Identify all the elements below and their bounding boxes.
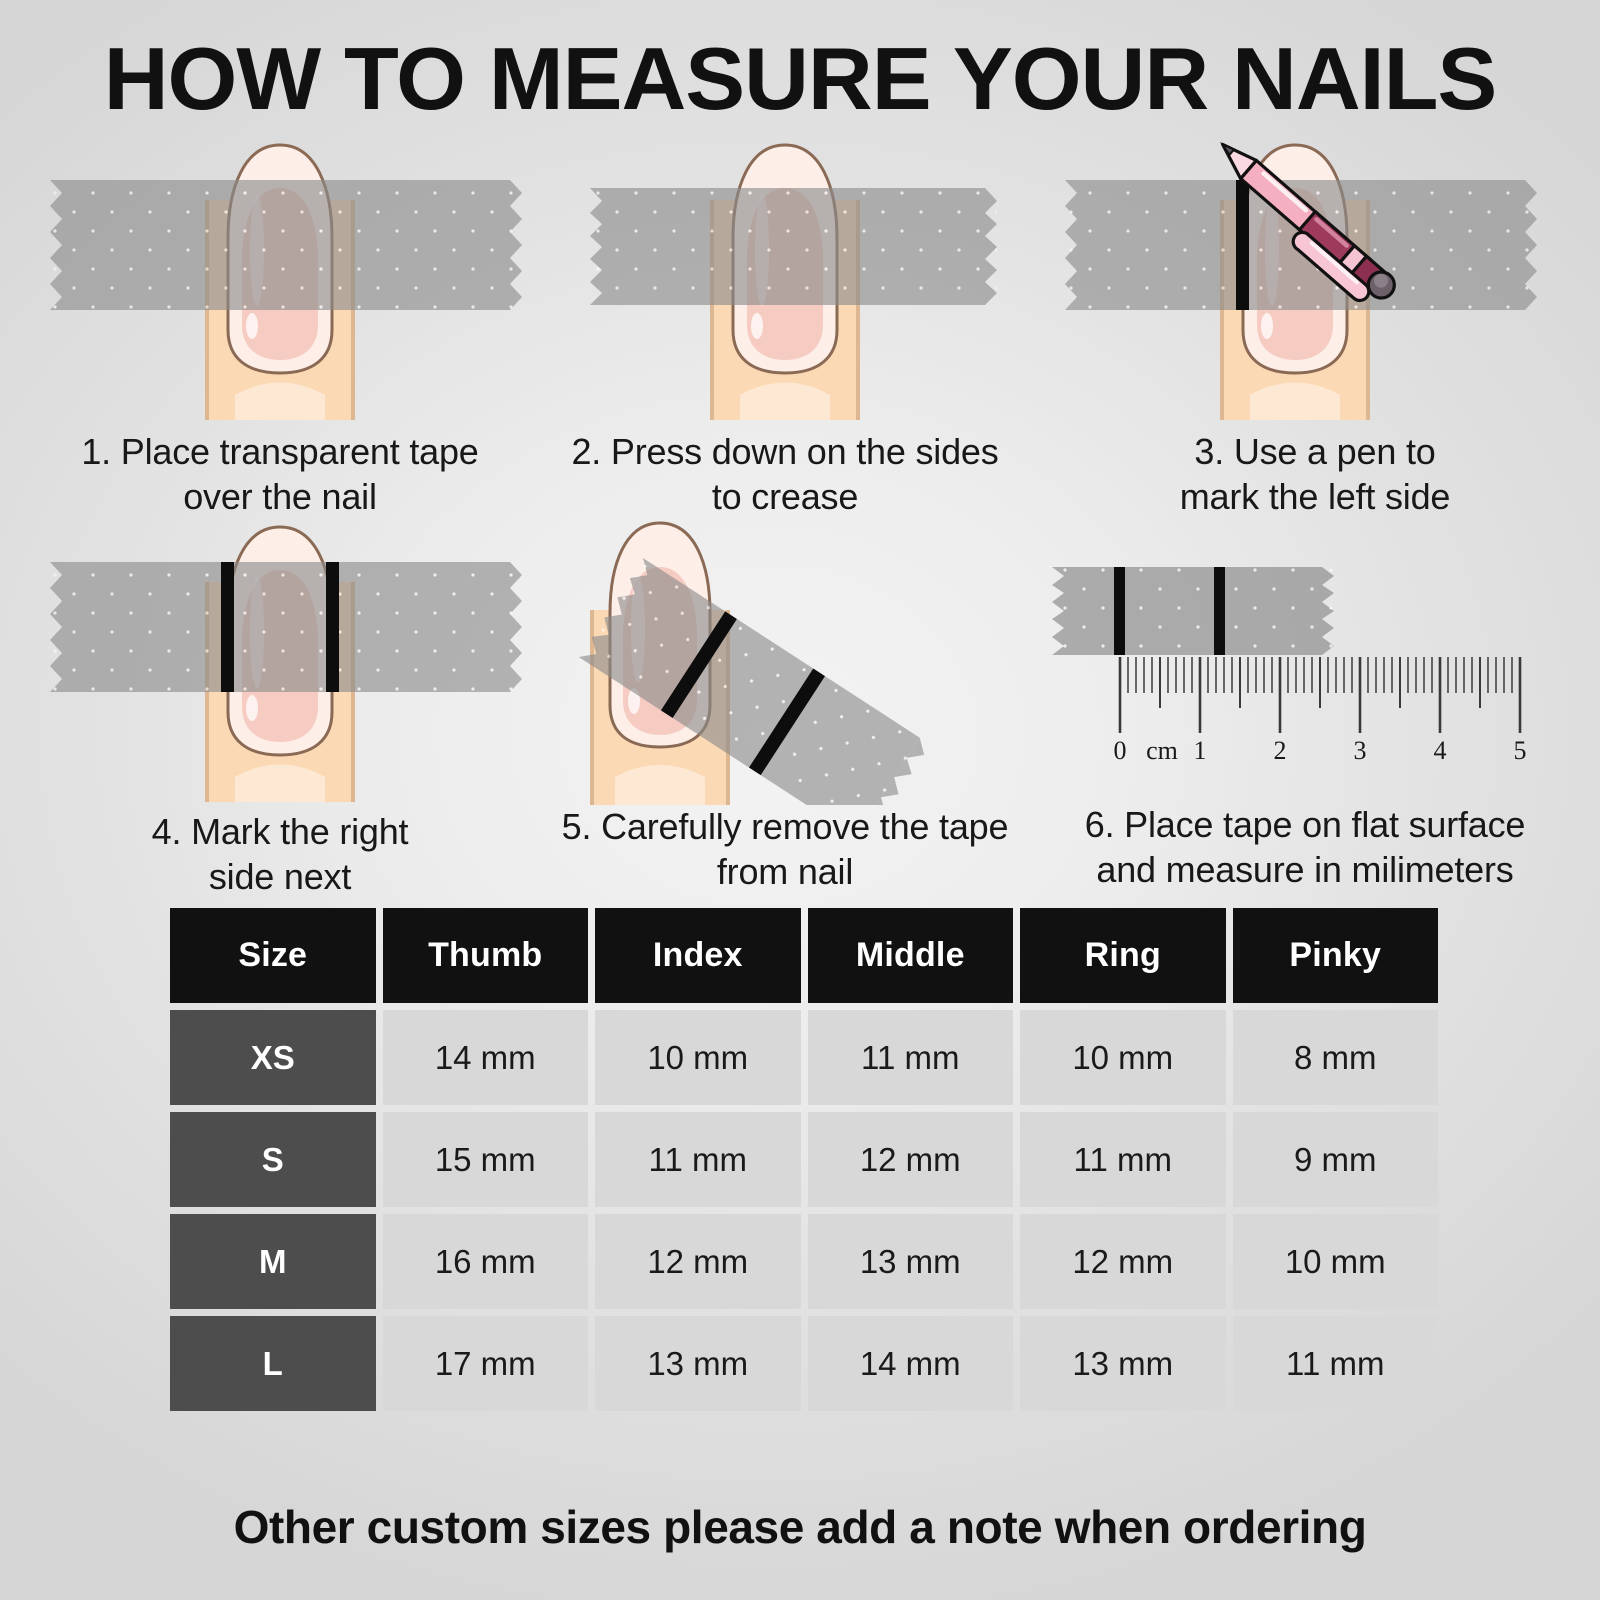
size-label: XS: [170, 1010, 376, 1105]
step-1: 1. Place transparent tape over the nail: [30, 130, 530, 530]
right-mark: [326, 562, 339, 692]
step-4-caption: 4. Mark the right side next: [30, 810, 530, 899]
table-cell: 11 mm: [1233, 1316, 1439, 1411]
ruler-label-5: 5: [1514, 736, 1527, 765]
ruler-label-0: 0: [1114, 736, 1127, 765]
table-cell: 13 mm: [808, 1214, 1014, 1309]
table-cell: 14 mm: [383, 1010, 589, 1105]
table-cell: 13 mm: [595, 1316, 801, 1411]
tape-mark-right: [1214, 567, 1225, 655]
tape-strip: [50, 562, 522, 692]
table-header-thumb: Thumb: [383, 908, 589, 1003]
table-cell: 11 mm: [808, 1010, 1014, 1105]
tape-strip-flat: [1052, 567, 1334, 655]
size-chart-table: Size Thumb Index Middle Ring Pinky XS 14…: [170, 908, 1438, 1418]
step-2-illustration: [535, 130, 1035, 420]
step-6-illustration: 0 cm 1 2 3 4 5: [1040, 545, 1540, 795]
step-1-illustration: [30, 130, 530, 420]
ruler-label-3: 3: [1354, 736, 1367, 765]
step-3-caption: 3. Use a pen to mark the left side: [1065, 430, 1565, 519]
step-3: 3. Use a pen to mark the left side: [1065, 130, 1565, 530]
size-label: S: [170, 1112, 376, 1207]
table-row: S 15 mm 11 mm 12 mm 11 mm 9 mm: [170, 1112, 1438, 1207]
table-cell: 12 mm: [808, 1112, 1014, 1207]
ruler: 0 cm 1 2 3 4 5: [1114, 657, 1527, 765]
tape-strip: [50, 180, 522, 310]
step-5-illustration: [535, 505, 1035, 805]
table-cell: 10 mm: [595, 1010, 801, 1105]
step-5-caption: 5. Carefully remove the tape from nail: [535, 805, 1035, 894]
ruler-label-4: 4: [1434, 736, 1447, 765]
step-4-illustration: [30, 512, 530, 802]
tape-strip-creased: [590, 188, 997, 305]
table-cell: 10 mm: [1233, 1214, 1439, 1309]
step-5: 5. Carefully remove the tape from nail: [535, 505, 1035, 905]
table-header-middle: Middle: [808, 908, 1014, 1003]
table-row: XS 14 mm 10 mm 11 mm 10 mm 8 mm: [170, 1010, 1438, 1105]
footnote: Other custom sizes please add a note whe…: [0, 1500, 1600, 1554]
table-cell: 11 mm: [1020, 1112, 1226, 1207]
table-cell: 8 mm: [1233, 1010, 1439, 1105]
table-row: L 17 mm 13 mm 14 mm 13 mm 11 mm: [170, 1316, 1438, 1411]
step-4: 4. Mark the right side next: [30, 512, 530, 912]
table-header-index: Index: [595, 908, 801, 1003]
table-cell: 15 mm: [383, 1112, 589, 1207]
table-header-row: Size Thumb Index Middle Ring Pinky: [170, 908, 1438, 1003]
table-cell: 12 mm: [1020, 1214, 1226, 1309]
table-header-size: Size: [170, 908, 376, 1003]
table-header-ring: Ring: [1020, 908, 1226, 1003]
tape-mark-left: [1114, 567, 1125, 655]
table-row: M 16 mm 12 mm 13 mm 12 mm 10 mm: [170, 1214, 1438, 1309]
step-2: 2. Press down on the sides to crease: [535, 130, 1035, 530]
table-cell: 13 mm: [1020, 1316, 1226, 1411]
ruler-unit: cm: [1146, 736, 1178, 765]
table-cell: 12 mm: [595, 1214, 801, 1309]
page-title: HOW TO MEASURE YOUR NAILS: [0, 28, 1600, 130]
table-cell: 10 mm: [1020, 1010, 1226, 1105]
table-cell: 9 mm: [1233, 1112, 1439, 1207]
table-cell: 11 mm: [595, 1112, 801, 1207]
infographic-page: HOW TO MEASURE YOUR NAILS: [0, 0, 1600, 1600]
step-6: 0 cm 1 2 3 4 5 6. Place tape on flat sur…: [1040, 545, 1570, 945]
table-cell: 17 mm: [383, 1316, 589, 1411]
left-mark: [221, 562, 234, 692]
step-1-caption: 1. Place transparent tape over the nail: [30, 430, 530, 519]
step-6-caption: 6. Place tape on flat surface and measur…: [1040, 803, 1570, 892]
ruler-label-1: 1: [1194, 736, 1207, 765]
step-3-illustration: [1065, 130, 1565, 420]
table-cell: 16 mm: [383, 1214, 589, 1309]
table-cell: 14 mm: [808, 1316, 1014, 1411]
table-header-pinky: Pinky: [1233, 908, 1439, 1003]
size-label: M: [170, 1214, 376, 1309]
ruler-label-2: 2: [1274, 736, 1287, 765]
size-label: L: [170, 1316, 376, 1411]
left-mark: [1236, 180, 1249, 310]
